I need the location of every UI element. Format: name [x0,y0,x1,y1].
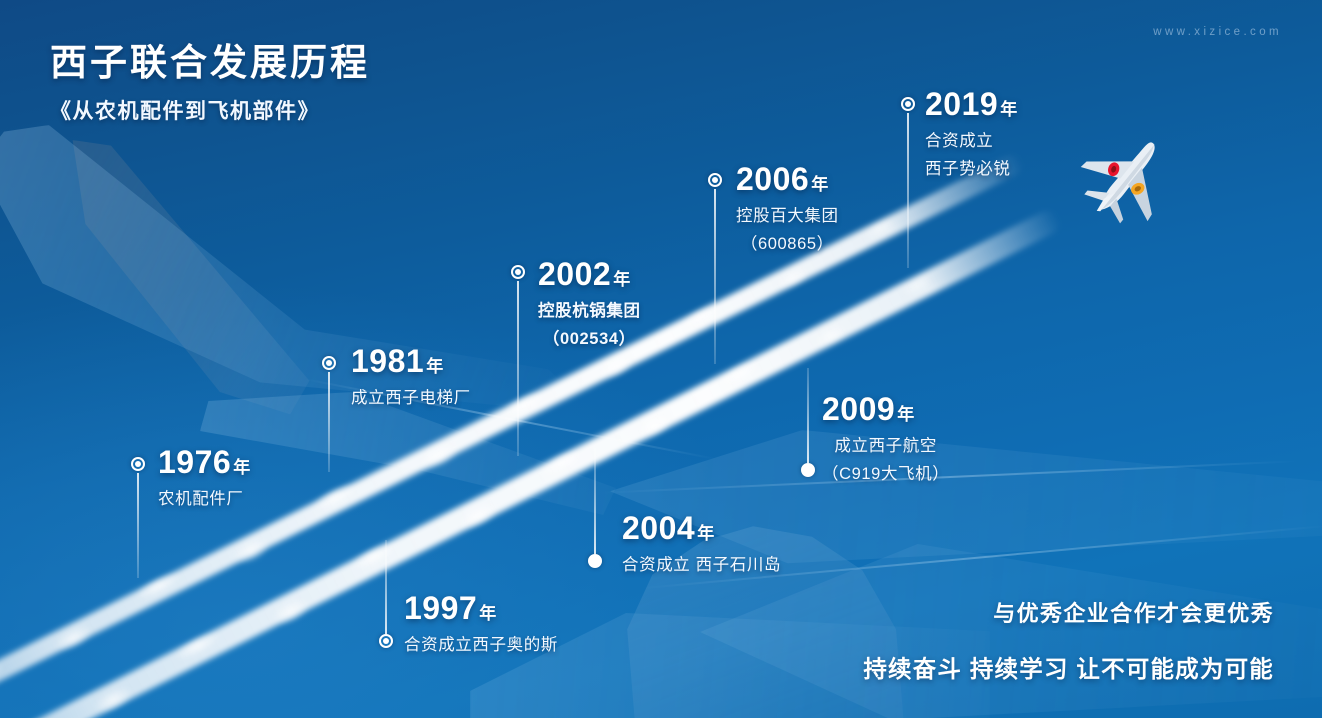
milestone-year-suffix: 年 [811,175,829,194]
milestone-year-suffix: 年 [1000,100,1018,119]
milestone-year: 2002年 [538,258,641,290]
milestone-marker-2006[interactable] [708,173,722,187]
page-subtitle: 《从农机配件到飞机部件》 [50,95,370,125]
milestone-leader-1981 [328,372,330,472]
milestone-marker-2004[interactable] [588,554,602,568]
milestone-year-number: 1981 [351,343,424,379]
milestone-desc-line: 控股百大集团 [736,204,839,230]
milestone-1981[interactable]: 1981年 成立西子电梯厂 [351,345,471,412]
milestone-marker-2002[interactable] [511,265,525,279]
milestone-desc-code: （C919大飞机） [822,462,949,488]
milestone-desc-line: 西子势必锐 [925,157,1018,183]
airplane-icon [1074,128,1183,225]
milestone-marker-1981[interactable] [322,356,336,370]
milestone-desc-code: （002534） [538,327,641,353]
milestone-marker-1976[interactable] [131,457,145,471]
milestone-marker-1997[interactable] [379,634,393,648]
milestone-leader-2006 [714,189,716,364]
slogan-block: 与优秀企业合作才会更优秀 持续奋斗 持续学习 让不可能成为可能 [863,596,1274,684]
milestone-year-number: 2004 [622,510,695,546]
milestone-leader-2002 [517,281,519,456]
slogan-line-2: 持续奋斗 持续学习 让不可能成为可能 [863,650,1274,684]
header-block: 西子联合发展历程 《从农机配件到飞机部件》 [50,32,370,125]
milestone-2006[interactable]: 2006年 控股百大集团 （600865） [736,163,839,257]
milestone-year-number: 2009 [822,391,895,427]
milestone-year-suffix: 年 [613,270,631,289]
milestone-marker-2009[interactable] [801,463,815,477]
milestone-year-suffix: 年 [697,524,715,543]
milestone-leader-2019 [907,113,909,268]
milestone-year: 1976年 [158,446,251,478]
milestone-leader-1976 [137,473,139,578]
wing-flap-silhouette-icon [200,392,620,542]
milestone-year-suffix: 年 [479,604,497,623]
milestone-desc-line: 成立西子航空 [822,434,949,460]
milestone-leader-2004 [594,448,596,554]
milestone-1997[interactable]: 1997年 合资成立西子奥的斯 [404,592,558,659]
milestone-year: 2009年 [822,393,949,425]
milestone-year-number: 1997 [404,590,477,626]
milestone-2009[interactable]: 2009年 成立西子航空 （C919大飞机） [822,393,949,487]
milestone-year-number: 2019 [925,86,998,122]
milestone-leader-1997 [385,540,387,634]
milestone-year: 2019年 [925,88,1018,120]
milestone-year: 2004年 [622,512,781,544]
milestone-year: 2006年 [736,163,839,195]
milestone-year: 1981年 [351,345,471,377]
milestone-year-number: 2006 [736,161,809,197]
milestone-1976[interactable]: 1976年 农机配件厂 [158,446,251,513]
milestone-year-suffix: 年 [897,405,915,424]
poster-canvas: www.xizice.com 西子联合发展历程 《从农机配件到飞机部件》 197… [0,0,1322,718]
milestone-2004[interactable]: 2004年 合资成立 西子石川岛 [622,512,781,579]
milestone-year-number: 1976 [158,444,231,480]
milestone-desc-line: 合资成立 [925,129,1018,155]
milestone-marker-2019[interactable] [901,97,915,111]
watermark-url: www.xizice.com [1153,26,1282,38]
milestone-year-suffix: 年 [233,458,251,477]
milestone-desc-line: 农机配件厂 [158,487,251,513]
milestone-desc-line: 合资成立 西子石川岛 [622,553,781,579]
milestone-2019[interactable]: 2019年 合资成立 西子势必锐 [925,88,1018,182]
milestone-desc-code: （600865） [736,232,839,258]
milestone-year-suffix: 年 [426,357,444,376]
slogan-line-1: 与优秀企业合作才会更优秀 [863,596,1274,628]
milestone-desc-line: 合资成立西子奥的斯 [404,633,558,659]
milestone-year-number: 2002 [538,256,611,292]
page-title: 西子联合发展历程 [50,32,370,86]
milestone-desc-line: 控股杭锅集团 [538,299,641,325]
milestone-desc-line: 成立西子电梯厂 [351,386,471,412]
milestone-2002[interactable]: 2002年 控股杭锅集团 （002534） [538,258,641,352]
milestone-leader-2009 [807,368,809,463]
milestone-year: 1997年 [404,592,558,624]
